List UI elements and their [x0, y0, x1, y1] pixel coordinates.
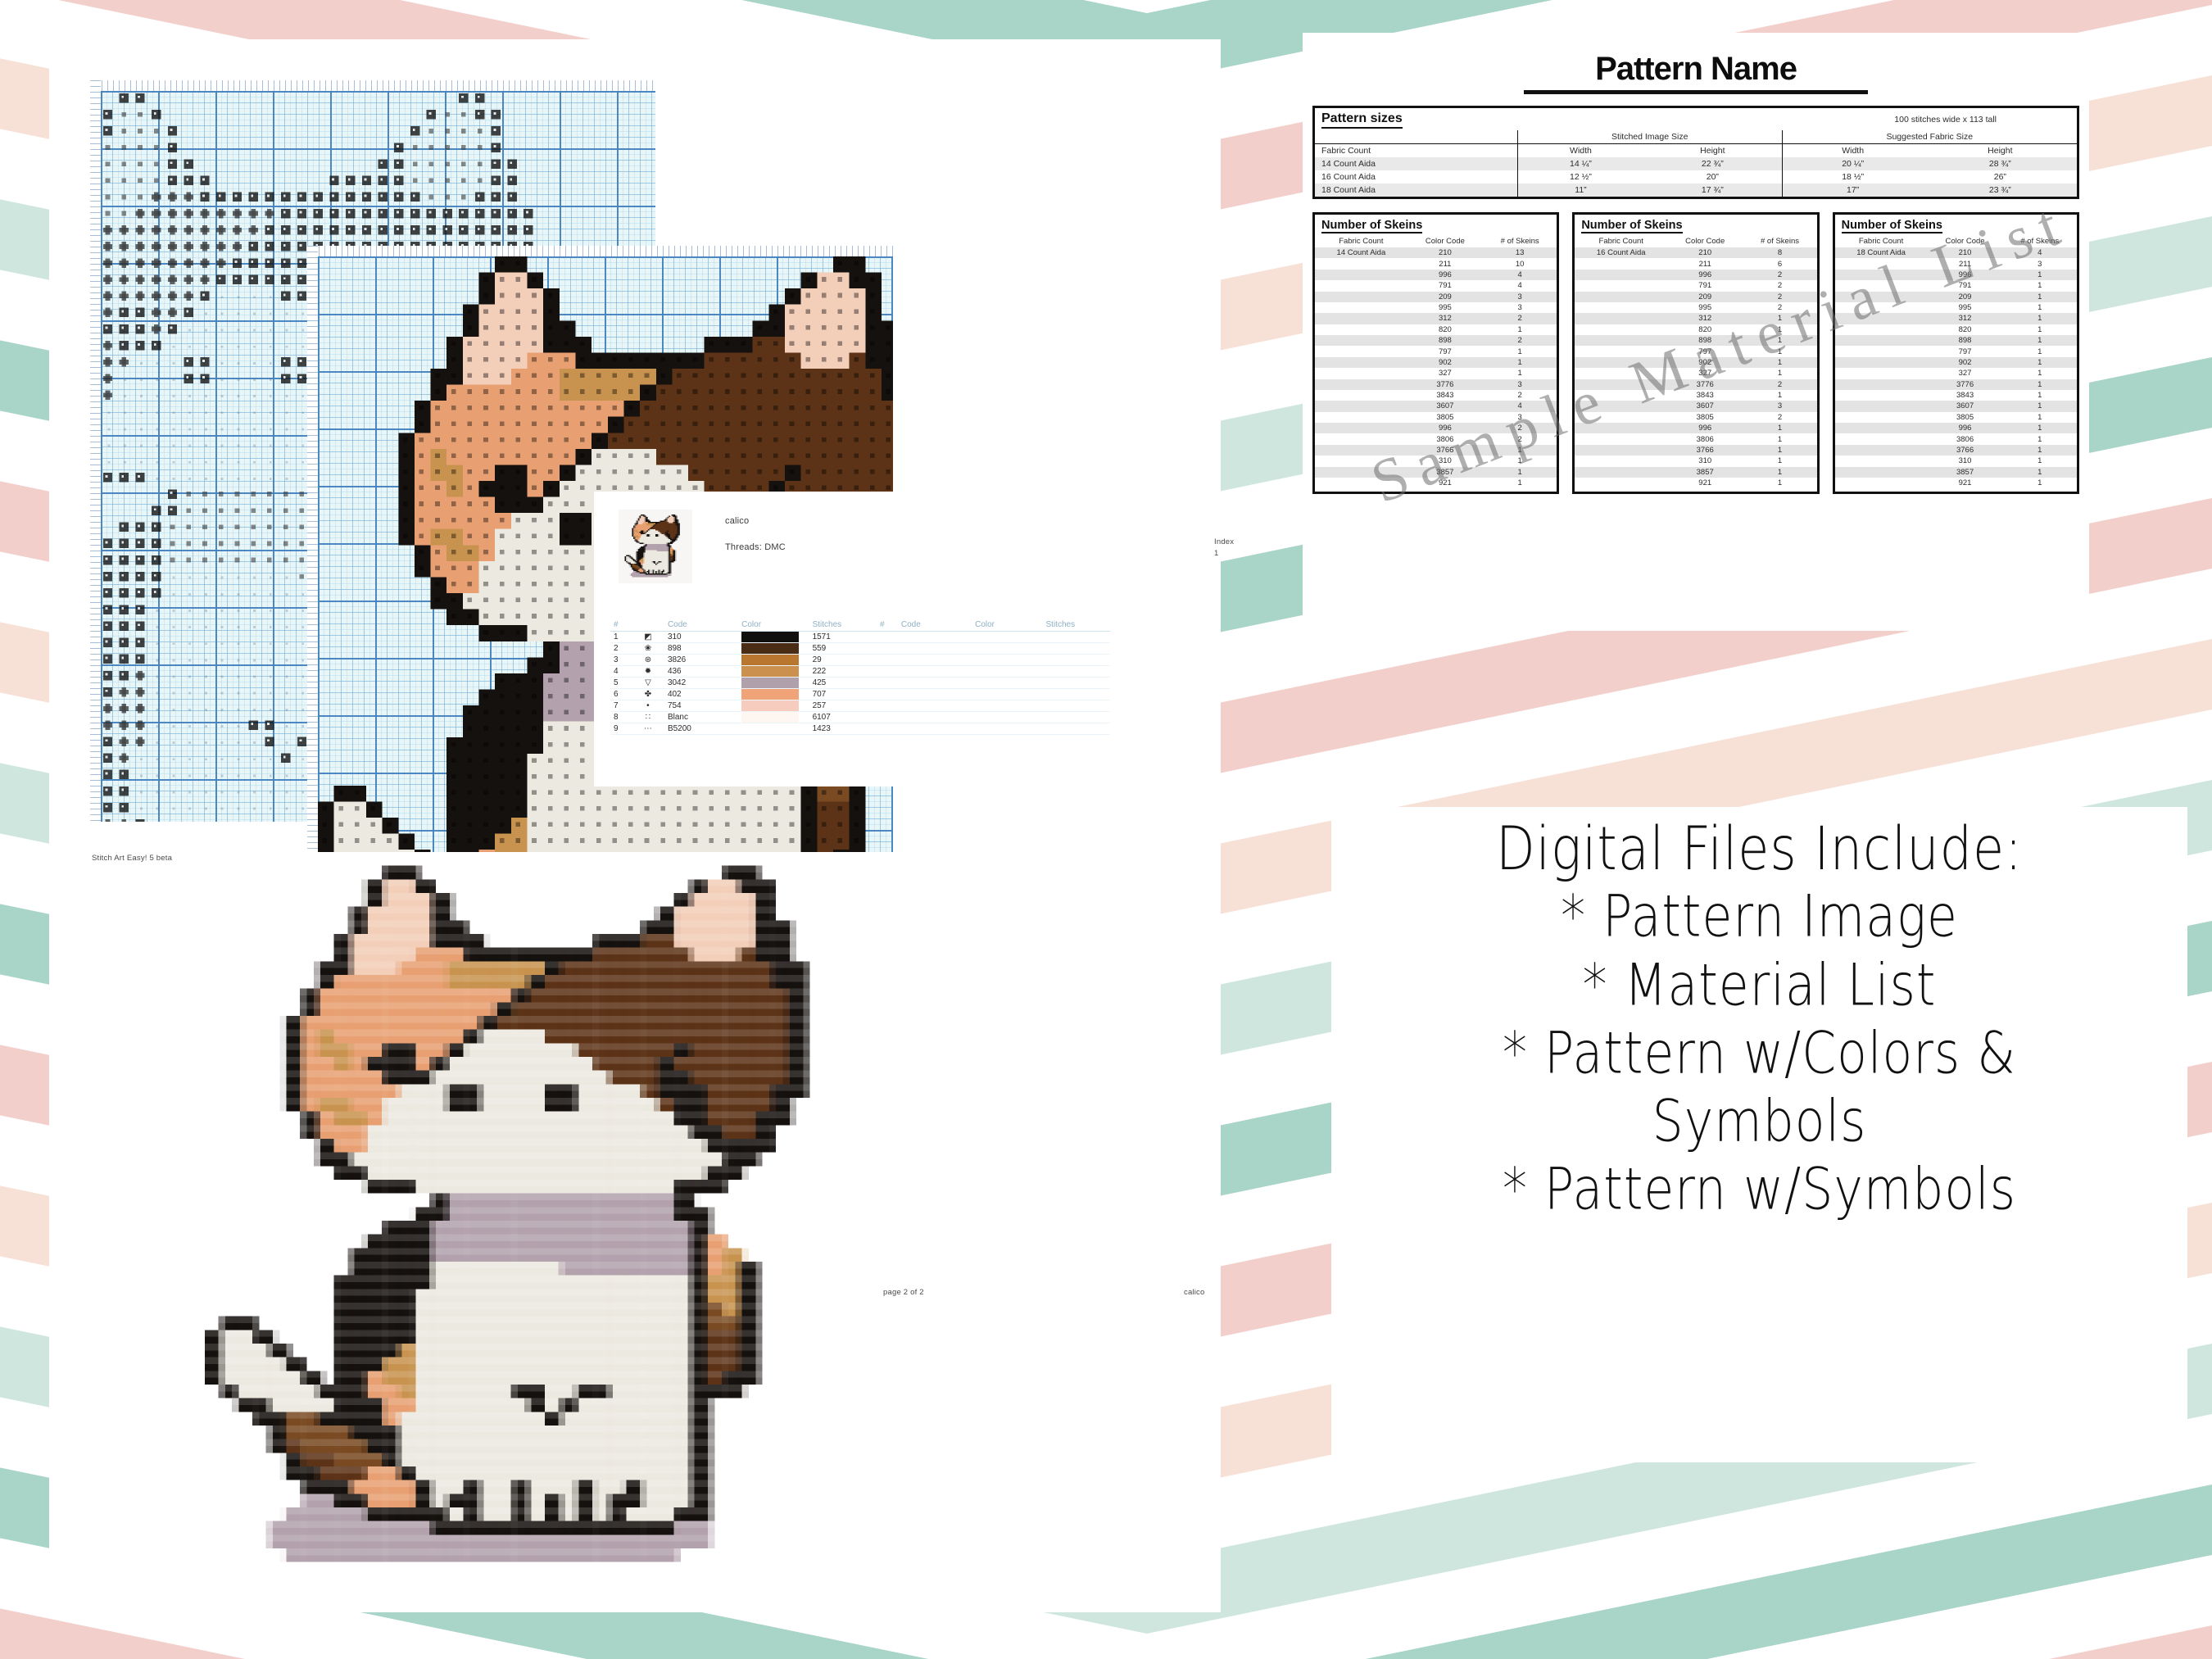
- skeins-count: 1: [1483, 478, 1557, 488]
- skeins-fabric: [1835, 478, 1928, 488]
- skeins-row: 9962: [1315, 423, 1557, 433]
- skeins-row: 37661: [1575, 445, 1816, 456]
- legend-code: Blanc: [664, 712, 741, 723]
- skeins-code: 312: [1927, 313, 2002, 324]
- skeins-count: 1: [1483, 456, 1557, 466]
- skeins-row: 36074: [1315, 401, 1557, 411]
- skeins-row: 38062: [1315, 433, 1557, 444]
- skeins-code: 3857: [1927, 467, 2002, 478]
- skeins-fabric: [1315, 401, 1407, 411]
- legend-color-swatch: [741, 689, 809, 700]
- skeins-row: 8982: [1315, 335, 1557, 346]
- skeins-count: 3: [1483, 379, 1557, 390]
- ruler-left-icon: [90, 80, 101, 822]
- skeins-code: 820: [1927, 324, 2002, 335]
- skeins-heading: Number of Skeins: [1581, 219, 1682, 233]
- skeins-row: 38571: [1575, 467, 1816, 478]
- skeins-row: 3271: [1835, 368, 2077, 378]
- skeins-fabric: [1835, 433, 1928, 444]
- pattern-name-title: Pattern Name: [1303, 33, 2089, 88]
- skeins-fabric: [1315, 313, 1407, 324]
- sizes-fabric-width: 18 ½”: [1782, 170, 1924, 184]
- skeins-code: 902: [1407, 357, 1483, 368]
- skeins-count: 3: [1483, 302, 1557, 313]
- skeins-row: 37761: [1835, 379, 2077, 390]
- skeins-count: 1: [1743, 346, 1816, 356]
- skeins-row: 9211: [1575, 478, 1816, 488]
- design-name: calico: [725, 516, 786, 526]
- page-number: page 2 of 2: [883, 1288, 924, 1297]
- legend-body: 1◩31015712❀8985593⊛3826294✹4362225▽30424…: [610, 632, 1110, 735]
- legend-color-swatch: [741, 632, 809, 643]
- skeins-code: 996: [1407, 423, 1483, 433]
- legend-col-number-2: #: [877, 619, 898, 632]
- skeins-row: 7971: [1835, 346, 2077, 356]
- skeins-tables-row: Number of Skeins Fabric CountColor Code#…: [1312, 212, 2079, 494]
- skeins-count: 1: [2003, 445, 2077, 456]
- pattern-sizes-table: Stitched Image SizeSuggested Fabric Size…: [1315, 130, 2077, 197]
- skeins-count: 2: [1483, 390, 1557, 401]
- skeins-count: 3: [1483, 292, 1557, 302]
- legend-col-stitches: Stitches: [809, 619, 877, 632]
- skeins-code: 3776: [1407, 379, 1483, 390]
- skeins-count: 1: [1483, 346, 1557, 356]
- skeins-fabric: [1835, 346, 1928, 356]
- digital-files-item: * Pattern w/Symbols: [1503, 1158, 2016, 1222]
- skeins-code: 3607: [1927, 401, 2002, 411]
- legend-symbol-icon: ◩: [632, 632, 664, 643]
- skeins-fabric: [1575, 401, 1667, 411]
- skeins-code: 820: [1407, 324, 1483, 335]
- skeins-fabric: [1575, 390, 1667, 401]
- skeins-count: 1: [2003, 270, 2077, 280]
- material-list-sheet: Pattern Name Pattern sizes 100 stitches …: [1303, 33, 2089, 631]
- skeins-row: 37661: [1315, 445, 1557, 456]
- skeins-count: 1: [1743, 423, 1816, 433]
- sizes-stitched-width: 11”: [1517, 184, 1643, 197]
- skeins-table: Fabric CountColor Code# of Skeins16 Coun…: [1575, 235, 1816, 488]
- skeins-fabric: [1315, 423, 1407, 433]
- skeins-code: 211: [1927, 258, 2002, 269]
- skeins-col-fabric: Fabric Count: [1575, 235, 1667, 247]
- col-fabric-height: Height: [1924, 144, 2077, 158]
- skeins-count: 10: [1483, 258, 1557, 269]
- legend-number: 4: [610, 666, 632, 678]
- skeins-row: 16 Count Aida2108: [1575, 247, 1816, 258]
- skeins-count: 1: [1743, 467, 1816, 478]
- skeins-code: 310: [1407, 456, 1483, 466]
- legend-color-swatch: [741, 712, 809, 723]
- sizes-fabric: 18 Count Aida: [1315, 184, 1517, 197]
- sizes-fabric-height: 28 ¾”: [1924, 157, 2077, 170]
- legend-row: 4✹436222: [610, 666, 1110, 678]
- skeins-row: 3101: [1575, 456, 1816, 466]
- skeins-fabric: [1575, 379, 1667, 390]
- digital-files-item: Symbols: [1652, 1090, 1867, 1154]
- legend-stitches: 1571: [809, 632, 877, 643]
- skeins-count: 1: [1743, 335, 1816, 346]
- sizes-row: 16 Count Aida12 ½”20”18 ½”26”: [1315, 170, 2077, 184]
- skeins-row: 38571: [1315, 467, 1557, 478]
- sizes-fabric: 14 Count Aida: [1315, 157, 1517, 170]
- legend-stitches: 425: [809, 678, 877, 689]
- skeins-count: 1: [1743, 445, 1816, 456]
- index-number: 1: [1214, 549, 1218, 558]
- skeins-fabric: [1835, 379, 1928, 390]
- skeins-code: 3766: [1407, 445, 1483, 456]
- skeins-code: 210: [1667, 247, 1743, 258]
- skeins-count: 1: [2003, 357, 2077, 368]
- skeins-code: 797: [1407, 346, 1483, 356]
- software-credit: Stitch Art Easy! 5 beta: [92, 854, 172, 863]
- skeins-count: 1: [2003, 467, 2077, 478]
- skeins-code: 3607: [1667, 401, 1743, 411]
- legend-symbol-icon: •: [632, 700, 664, 712]
- skeins-fabric: 14 Count Aida: [1315, 247, 1407, 258]
- sizes-stitched-width: 14 ¼”: [1517, 157, 1643, 170]
- legend-symbol-icon: ❀: [632, 643, 664, 655]
- skeins-row: 3271: [1575, 368, 1816, 378]
- skeins-fabric: [1315, 292, 1407, 302]
- skeins-count: 1: [1483, 445, 1557, 456]
- skeins-count: 8: [1743, 247, 1816, 258]
- skeins-fabric: [1315, 445, 1407, 456]
- legend-row: 8∷Blanc6107: [610, 712, 1110, 723]
- col-fabric-count: Fabric Count: [1315, 144, 1517, 158]
- sizes-stitched-height: 17 ¾”: [1643, 184, 1782, 197]
- skeins-fabric: [1575, 478, 1667, 488]
- skeins-count: 1: [2003, 313, 2077, 324]
- skeins-fabric: [1315, 390, 1407, 401]
- skeins-row: 38053: [1315, 412, 1557, 423]
- skeins-fabric: [1835, 357, 1928, 368]
- legend-col-code: Code: [664, 619, 741, 632]
- legend-color-swatch: [741, 643, 809, 655]
- skeins-row: 9021: [1575, 357, 1816, 368]
- skeins-code: 996: [1407, 270, 1483, 280]
- skeins-fabric: [1835, 401, 1928, 411]
- skeins-fabric: [1575, 270, 1667, 280]
- sizes-fabric-width: 20 ¼”: [1782, 157, 1924, 170]
- skeins-fabric: [1315, 280, 1407, 291]
- skeins-code: 209: [1407, 292, 1483, 302]
- skeins-code: 902: [1927, 357, 2002, 368]
- skeins-row: 38051: [1835, 412, 2077, 423]
- skeins-count: 2: [1483, 433, 1557, 444]
- skeins-row: 21110: [1315, 258, 1557, 269]
- skeins-count: 1: [1743, 357, 1816, 368]
- skeins-col-code: Color Code: [1407, 235, 1483, 247]
- skeins-code: 791: [1927, 280, 2002, 291]
- skeins-fabric: [1575, 368, 1667, 378]
- skeins-code: 3843: [1927, 390, 2002, 401]
- skeins-table: Fabric CountColor Code# of Skeins14 Coun…: [1315, 235, 1557, 488]
- skeins-fabric: [1575, 280, 1667, 291]
- skeins-count: 1: [2003, 401, 2077, 411]
- skeins-count: 1: [1743, 368, 1816, 378]
- skeins-code: 3607: [1407, 401, 1483, 411]
- skeins-count: 1: [2003, 433, 2077, 444]
- legend-color-swatch: [741, 655, 809, 666]
- legend-symbol-icon: ∷: [632, 712, 664, 723]
- skeins-code: 898: [1407, 335, 1483, 346]
- skeins-count: 1: [2003, 379, 2077, 390]
- pattern-sizes-header: Pattern sizes 100 stitches wide x 113 ta…: [1315, 108, 2077, 130]
- skeins-fabric: [1315, 412, 1407, 423]
- skeins-count: 4: [1483, 270, 1557, 280]
- legend-code: 3826: [664, 655, 741, 666]
- legend-col-symbol: [632, 619, 664, 632]
- thread-legend-card: calico Threads: DMC # Code Color Stitche…: [594, 492, 1126, 786]
- legend-symbol-icon: ▽: [632, 678, 664, 689]
- legend-table-wrap: # Code Color Stitches # Code Color Stitc…: [610, 619, 1110, 735]
- pattern-sizes-box: Pattern sizes 100 stitches wide x 113 ta…: [1312, 106, 2079, 199]
- legend-number: 8: [610, 712, 632, 723]
- skeins-code: 327: [1667, 368, 1743, 378]
- ruler-top-icon: [307, 246, 893, 256]
- skeins-fabric: [1835, 456, 1928, 466]
- col-fabric-width: Width: [1782, 144, 1924, 158]
- skeins-code: 995: [1667, 302, 1743, 313]
- skeins-count: 1: [2003, 478, 2077, 488]
- skeins-count: 1: [2003, 302, 2077, 313]
- skeins-code: 312: [1407, 313, 1483, 324]
- sizes-fabric-width: 17”: [1782, 184, 1924, 197]
- ruler-top-icon: [90, 80, 655, 91]
- skeins-fabric: [1575, 467, 1667, 478]
- skeins-row: 7914: [1315, 280, 1557, 291]
- skeins-fabric: [1575, 313, 1667, 324]
- skeins-row: 9964: [1315, 270, 1557, 280]
- skeins-col-code: Color Code: [1667, 235, 1743, 247]
- skeins-row: 38061: [1835, 433, 2077, 444]
- skeins-count: 1: [1743, 324, 1816, 335]
- skeins-code: 921: [1407, 478, 1483, 488]
- skeins-count: 3: [2003, 258, 2077, 269]
- skeins-count: 2: [1483, 423, 1557, 433]
- threads-brand: Threads: DMC: [725, 542, 786, 552]
- skeins-code: 902: [1667, 357, 1743, 368]
- legend-number: 7: [610, 700, 632, 712]
- skeins-col-count: # of Skeins: [2003, 235, 2077, 247]
- skeins-fabric: [1315, 478, 1407, 488]
- legend-code: 310: [664, 632, 741, 643]
- skeins-col-fabric: Fabric Count: [1315, 235, 1407, 247]
- skeins-fabric: [1315, 379, 1407, 390]
- col-stitched-width: Width: [1517, 144, 1643, 158]
- skeins-code: 995: [1407, 302, 1483, 313]
- legend-code: 436: [664, 666, 741, 678]
- skeins-row: 2113: [1835, 258, 2077, 269]
- skeins-fabric: [1835, 292, 1928, 302]
- skeins-row: 38431: [1835, 390, 2077, 401]
- sizes-column-header-row: Fabric CountWidthHeightWidthHeight: [1315, 144, 2077, 158]
- legend-col-color: Color: [741, 619, 809, 632]
- legend-number: 6: [610, 689, 632, 700]
- legend-color-swatch: [741, 700, 809, 712]
- skeins-row: 9211: [1315, 478, 1557, 488]
- skeins-fabric: [1835, 412, 1928, 423]
- sizes-row: 14 Count Aida14 ¼”22 ¾”20 ¼”28 ¾”: [1315, 157, 2077, 170]
- skeins-count: 2: [1483, 335, 1557, 346]
- skeins-row: 38432: [1315, 390, 1557, 401]
- skeins-code: 210: [1407, 247, 1483, 258]
- skeins-code: 996: [1927, 270, 2002, 280]
- skeins-code: 797: [1927, 346, 2002, 356]
- legend-stitches: 6107: [809, 712, 877, 723]
- skeins-count: 1: [2003, 346, 2077, 356]
- legend-stitches: 559: [809, 643, 877, 655]
- skeins-row: 2116: [1575, 258, 1816, 269]
- skeins-fabric: [1315, 433, 1407, 444]
- sizes-fabric-height: 26”: [1924, 170, 2077, 184]
- legend-row: 6✤402707: [610, 689, 1110, 700]
- skeins-count: 1: [1743, 390, 1816, 401]
- skeins-code: 211: [1407, 258, 1483, 269]
- skeins-count: 6: [1743, 258, 1816, 269]
- skeins-fabric: [1835, 368, 1928, 378]
- skeins-code: 820: [1667, 324, 1743, 335]
- skeins-fabric: [1835, 302, 1928, 313]
- skeins-count: 1: [1743, 433, 1816, 444]
- skeins-code: 797: [1667, 346, 1743, 356]
- legend-code: 402: [664, 689, 741, 700]
- skeins-row: 8981: [1835, 335, 2077, 346]
- skeins-fabric: [1835, 280, 1928, 291]
- skeins-count: 1: [1743, 456, 1816, 466]
- skeins-count: 1: [2003, 412, 2077, 423]
- sizes-row: 18 Count Aida11”17 ¾”17”23 ¾”: [1315, 184, 2077, 197]
- skeins-row: 9021: [1315, 357, 1557, 368]
- digital-files-list: Digital Files Include:* Pattern Image* M…: [1331, 807, 2187, 1462]
- skeins-count: 1: [1743, 478, 1816, 488]
- skeins-row: 2093: [1315, 292, 1557, 302]
- skeins-code: 791: [1407, 280, 1483, 291]
- skeins-count: 1: [2003, 335, 2077, 346]
- skeins-fabric: [1315, 368, 1407, 378]
- skeins-row: 36073: [1575, 401, 1816, 411]
- skeins-code: 898: [1927, 335, 2002, 346]
- skeins-row: 37762: [1575, 379, 1816, 390]
- skeins-row: 9951: [1835, 302, 2077, 313]
- skeins-code: 327: [1927, 368, 2002, 378]
- skeins-row: 3101: [1835, 456, 2077, 466]
- skeins-code: 310: [1667, 456, 1743, 466]
- skeins-box: Number of Skeins Fabric CountColor Code#…: [1312, 212, 1559, 494]
- skeins-row: 3121: [1835, 313, 2077, 324]
- skeins-count: 1: [1483, 368, 1557, 378]
- skeins-fabric: 18 Count Aida: [1835, 247, 1928, 258]
- skeins-count: 2: [1743, 292, 1816, 302]
- skeins-count: 2: [1743, 302, 1816, 313]
- skeins-col-fabric: Fabric Count: [1835, 235, 1928, 247]
- skeins-count: 1: [2003, 324, 2077, 335]
- skeins-count: 2: [1743, 379, 1816, 390]
- skeins-row: 3122: [1315, 313, 1557, 324]
- skeins-row: 3121: [1575, 313, 1816, 324]
- legend-row: 2❀898559: [610, 643, 1110, 655]
- legend-stitches: 1423: [809, 723, 877, 735]
- skeins-fabric: [1575, 324, 1667, 335]
- skeins-count: 4: [1483, 280, 1557, 291]
- skeins-count: 1: [2003, 456, 2077, 466]
- skeins-row: 38431: [1575, 390, 1816, 401]
- skeins-fabric: [1315, 335, 1407, 346]
- legend-row: 5▽3042425: [610, 678, 1110, 689]
- skeins-code: 995: [1927, 302, 2002, 313]
- legend-row: 7•754257: [610, 700, 1110, 712]
- skeins-box: Number of Skeins Fabric CountColor Code#…: [1572, 212, 1819, 494]
- legend-number: 1: [610, 632, 632, 643]
- skeins-fabric: [1835, 324, 1928, 335]
- pattern-stitch-count: 100 stitches wide x 113 tall: [1894, 115, 1997, 125]
- legend-code: 3042: [664, 678, 741, 689]
- legend-number: 5: [610, 678, 632, 689]
- skeins-row: 9952: [1575, 302, 1816, 313]
- legend-col-color-2: Color: [975, 619, 1042, 632]
- skeins-code: 3857: [1407, 467, 1483, 478]
- skeins-code: 3766: [1667, 445, 1743, 456]
- skeins-code: 898: [1667, 335, 1743, 346]
- skeins-code: 3806: [1927, 433, 2002, 444]
- legend-number: 9: [610, 723, 632, 735]
- skeins-fabric: [1315, 467, 1407, 478]
- sizes-stitched-height: 22 ¾”: [1643, 157, 1782, 170]
- digital-files-item: * Pattern Image: [1561, 885, 1958, 950]
- legend-code: B5200: [664, 723, 741, 735]
- skeins-code: 921: [1667, 478, 1743, 488]
- legend-symbol-icon: ⊛: [632, 655, 664, 666]
- skeins-fabric: [1835, 390, 1928, 401]
- legend-code: 754: [664, 700, 741, 712]
- skeins-fabric: [1315, 324, 1407, 335]
- skeins-fabric: [1575, 433, 1667, 444]
- legend-col-stitches-2: Stitches: [1043, 619, 1110, 632]
- skeins-count: 1: [2003, 368, 2077, 378]
- skeins-code: 791: [1667, 280, 1743, 291]
- skeins-fabric: [1575, 302, 1667, 313]
- legend-stitches: 29: [809, 655, 877, 666]
- skeins-code: 3766: [1927, 445, 2002, 456]
- skeins-code: 211: [1667, 258, 1743, 269]
- skeins-row: 7912: [1575, 280, 1816, 291]
- design-thumbnail: [619, 510, 692, 583]
- skeins-fabric: [1315, 357, 1407, 368]
- skeins-fabric: [1835, 423, 1928, 433]
- legend-table: # Code Color Stitches # Code Color Stitc…: [610, 619, 1110, 735]
- legend-symbol-icon: ⋯: [632, 723, 664, 735]
- skeins-fabric: [1315, 456, 1407, 466]
- skeins-count: 1: [2003, 292, 2077, 302]
- skeins-fabric: [1575, 412, 1667, 423]
- skeins-heading: Number of Skeins: [1321, 219, 1422, 233]
- skeins-count: 1: [1743, 313, 1816, 324]
- skeins-fabric: [1575, 258, 1667, 269]
- group-fabric-size: Suggested Fabric Size: [1782, 130, 2077, 144]
- skeins-count: 1: [1483, 357, 1557, 368]
- skeins-row: 3101: [1315, 456, 1557, 466]
- skeins-code: 3776: [1927, 379, 2002, 390]
- sizes-stitched-height: 20”: [1643, 170, 1782, 184]
- legend-col-code-2: Code: [898, 619, 975, 632]
- legend-header-row: # Code Color Stitches # Code Color Stitc…: [610, 619, 1110, 632]
- skeins-count: 1: [2003, 280, 2077, 291]
- skeins-row: 14 Count Aida21013: [1315, 247, 1557, 258]
- legend-stitches: 257: [809, 700, 877, 712]
- skeins-header-row: Fabric CountColor Code# of Skeins: [1315, 235, 1557, 247]
- skeins-fabric: [1575, 335, 1667, 346]
- skeins-count: 1: [1483, 467, 1557, 478]
